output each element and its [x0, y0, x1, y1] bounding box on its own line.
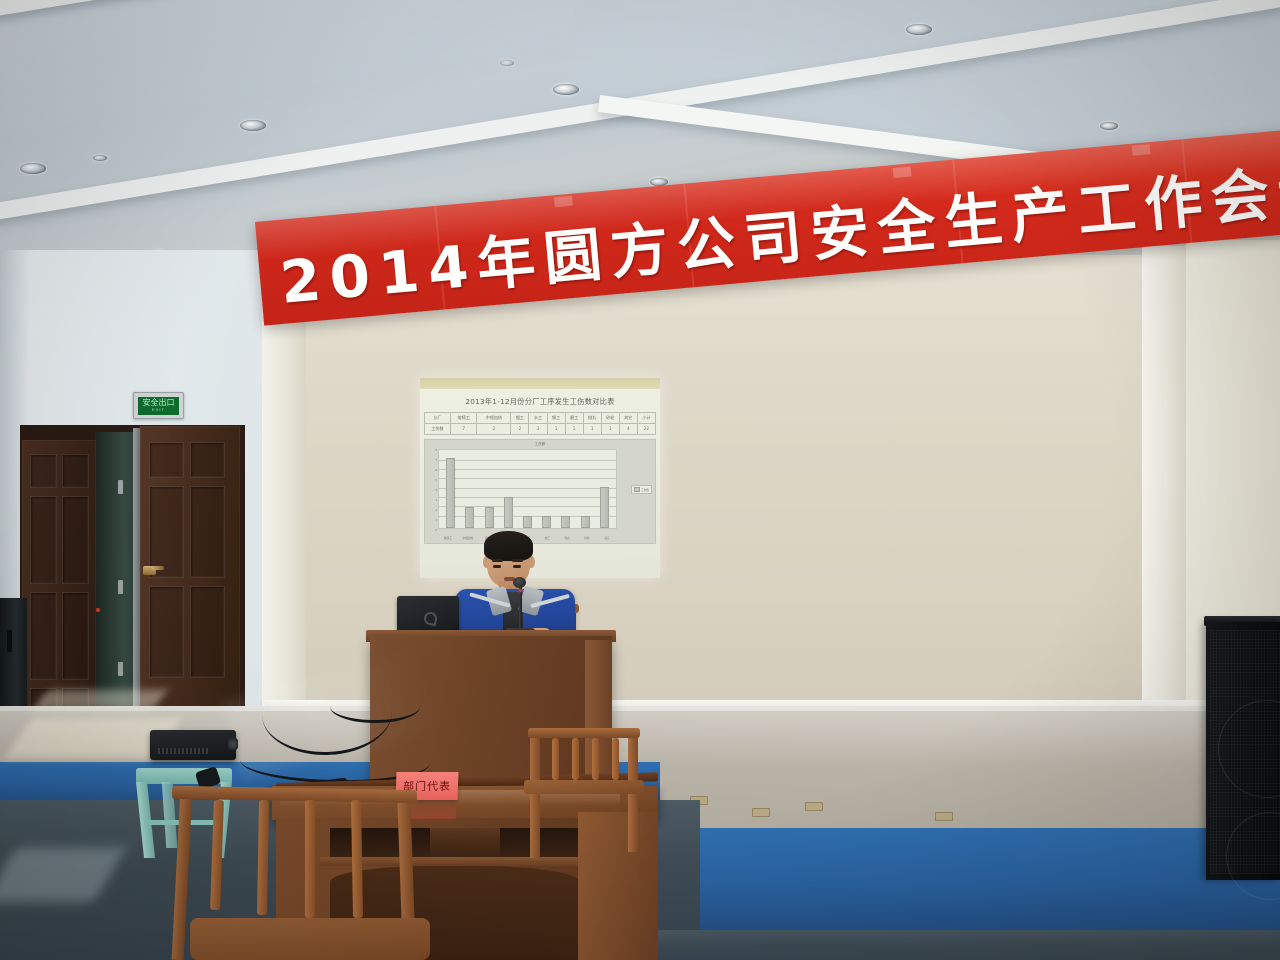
- projector-lens-icon: [228, 738, 238, 750]
- chart-bar: [485, 507, 494, 529]
- exit-sign-label-en: EXIT: [152, 408, 165, 412]
- chart-bar: [542, 516, 551, 528]
- table-header-row: 分厂熔铸工中频加热锯工水工铆工磨工抛丸砂轮其它小计: [425, 413, 656, 424]
- table-row-label: 工伤数: [425, 424, 451, 435]
- table-header-cell: 磨工: [565, 413, 583, 424]
- chart-bar: [561, 516, 570, 528]
- chart-y-tick-label: 3: [435, 499, 437, 502]
- chair-seat[interactable]: [524, 780, 644, 794]
- slide-title: 2013年1-12月份分厂工序发生工伤数对比表: [424, 391, 656, 412]
- chart-y-tick-label: 0: [435, 529, 437, 532]
- chart-x-tick-label: 抛丸: [559, 536, 575, 540]
- table-cell: 1: [583, 424, 601, 435]
- microphone-indicator-icon: [519, 589, 522, 592]
- table-cell: 7: [451, 424, 477, 435]
- chart-bar: [581, 516, 590, 528]
- stage-front-panel-right: [640, 828, 1280, 938]
- exit-sign-label-cn: 安全出口: [143, 399, 175, 407]
- chart-x-tick-label: 砂轮: [579, 536, 595, 540]
- chair-seat[interactable]: [190, 918, 430, 960]
- chart-y-tick-label: 5: [435, 479, 437, 482]
- table-header-cell: 熔铸工: [451, 413, 477, 424]
- projection-screen: 2013年1-12月份分厂工序发生工伤数对比表 分厂熔铸工中频加热锯工水工铆工磨…: [420, 378, 660, 578]
- presenter-eye: [513, 565, 521, 568]
- video-projector: [150, 730, 236, 760]
- table-cell: 3: [529, 424, 547, 435]
- chart-title: 工伤数: [425, 440, 655, 447]
- laptop-cable: [330, 690, 420, 723]
- table-cell: 2: [511, 424, 529, 435]
- chart-y-tick-label: 2: [435, 509, 437, 512]
- table-cell: 4: [619, 424, 637, 435]
- ceiling-downlight-icon: [1100, 122, 1118, 130]
- table-side-panel: [578, 812, 658, 960]
- slide-content: 2013年1-12月份分厂工序发生工伤数对比表 分厂熔铸工中频加热锯工水工铆工磨…: [424, 391, 656, 575]
- sunlight-patch: [33, 690, 168, 710]
- presenter-hair: [484, 531, 533, 561]
- table-cell: 22: [637, 424, 655, 435]
- floor-socket-plate: [752, 808, 770, 817]
- table-header-cell: 砂轮: [601, 413, 619, 424]
- chart-y-tick-label: 4: [435, 489, 437, 492]
- table-cell: 1: [565, 424, 583, 435]
- chart-bar: [446, 458, 455, 528]
- table-header-cell: 铆工: [547, 413, 565, 424]
- legend-swatch-icon: [634, 487, 640, 492]
- chart-y-axis: 876543210: [427, 449, 437, 529]
- table-row: 工伤数72231111422: [425, 424, 656, 435]
- ceiling-downlight-icon: [93, 155, 107, 161]
- ceiling-downlight-icon: [553, 84, 579, 95]
- projector-vent-icon: [158, 748, 208, 754]
- chart-bar: [523, 516, 532, 528]
- table-cell: 1: [601, 424, 619, 435]
- chart-legend: 工伤数: [631, 485, 652, 494]
- exit-sign-panel: 安全出口 EXIT: [138, 397, 179, 415]
- chart-bars: [441, 450, 614, 528]
- table-header-cell: 水工: [529, 413, 547, 424]
- table-header-cell: 分厂: [425, 413, 451, 424]
- floor-socket-plate: [935, 812, 953, 821]
- ceiling-downlight-icon: [500, 60, 514, 66]
- chart-bar: [465, 507, 474, 529]
- wall-pillar-right: [1142, 246, 1186, 746]
- door-indicator-light: [96, 608, 100, 612]
- table-header-cell: 锯工: [511, 413, 529, 424]
- table-header-cell: 抛丸: [583, 413, 601, 424]
- chart-bar: [504, 497, 513, 528]
- table-header-cell: 中频加热: [477, 413, 511, 424]
- chart-x-tick-label: 磨工: [539, 536, 555, 540]
- chart-plot-area: [438, 449, 617, 529]
- cabinet-handle-icon: [7, 630, 12, 652]
- ceiling-downlight-icon: [20, 163, 46, 174]
- presenter-eye: [493, 565, 501, 568]
- table-header-cell: 其它: [619, 413, 637, 424]
- meeting-room-photo: 安全出口 EXIT 2013年1-12月份分厂工序发生工伤数对比表: [0, 0, 1280, 960]
- door-leaf-left[interactable]: [22, 440, 96, 722]
- chart-y-tick-label: 6: [435, 469, 437, 472]
- chart-bar: [600, 487, 609, 528]
- table-shelf-divider: [430, 828, 500, 858]
- chair-top-rail: [528, 728, 640, 738]
- door-hinge-icon: [118, 480, 123, 494]
- ceiling-downlight-icon: [240, 120, 266, 131]
- chart-y-tick-label: 7: [435, 459, 437, 462]
- table-header-cell: 小计: [637, 413, 655, 424]
- slide-data-table: 分厂熔铸工中频加热锯工水工铆工磨工抛丸砂轮其它小计 工伤数72231111422: [424, 412, 656, 435]
- chart-x-tick-label: 中频加热: [460, 536, 476, 540]
- table-cell: 1: [547, 424, 565, 435]
- ceiling-downlight-icon: [906, 24, 932, 35]
- door-hinge-icon: [118, 580, 123, 594]
- floor-socket-plate: [805, 802, 823, 811]
- microphone-head[interactable]: [513, 577, 526, 588]
- emergency-exit-sign: 安全出口 EXIT: [133, 392, 184, 419]
- chart-y-tick-label: 1: [435, 519, 437, 522]
- door-hinge-icon: [118, 662, 123, 676]
- room-floor-right: [640, 930, 1280, 960]
- slide-bar-chart: 工伤数 876543210 熔铸工中频加热锯工水工铆工磨工抛丸砂轮其它 工伤数: [424, 439, 656, 544]
- chart-y-tick-label: 8: [435, 449, 437, 452]
- legend-label: 工伤数: [641, 488, 649, 492]
- chart-x-tick-label: 熔铸工: [440, 536, 456, 540]
- table-cell: 2: [477, 424, 511, 435]
- screen-top-band: [420, 378, 660, 389]
- door-lever-icon[interactable]: [152, 566, 164, 570]
- chart-x-tick-label: 其它: [599, 536, 615, 540]
